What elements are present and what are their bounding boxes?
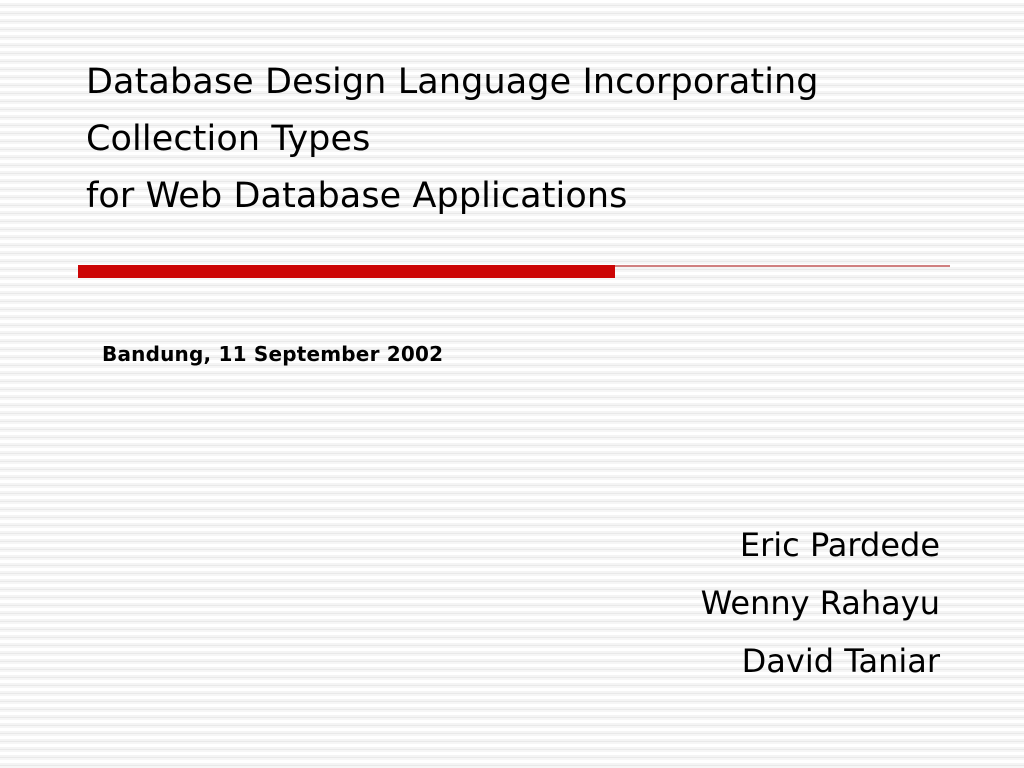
title-divider: [78, 264, 950, 279]
author-name-3: David Taniar: [701, 632, 940, 690]
divider-accent-bar: [78, 265, 615, 278]
author-name-1: Eric Pardede: [701, 516, 940, 574]
event-location-date: Bandung, 11 September 2002: [102, 342, 443, 366]
author-list: Eric Pardede Wenny Rahayu David Taniar: [701, 516, 940, 690]
title-line-3: for Web Database Applications: [86, 168, 966, 225]
title-line-1: Database Design Language Incorporating: [86, 54, 966, 111]
title-slide: Database Design Language Incorporating C…: [0, 0, 1024, 768]
author-name-2: Wenny Rahayu: [701, 574, 940, 632]
title-line-2: Collection Types: [86, 111, 966, 168]
slide-title: Database Design Language Incorporating C…: [86, 54, 966, 225]
